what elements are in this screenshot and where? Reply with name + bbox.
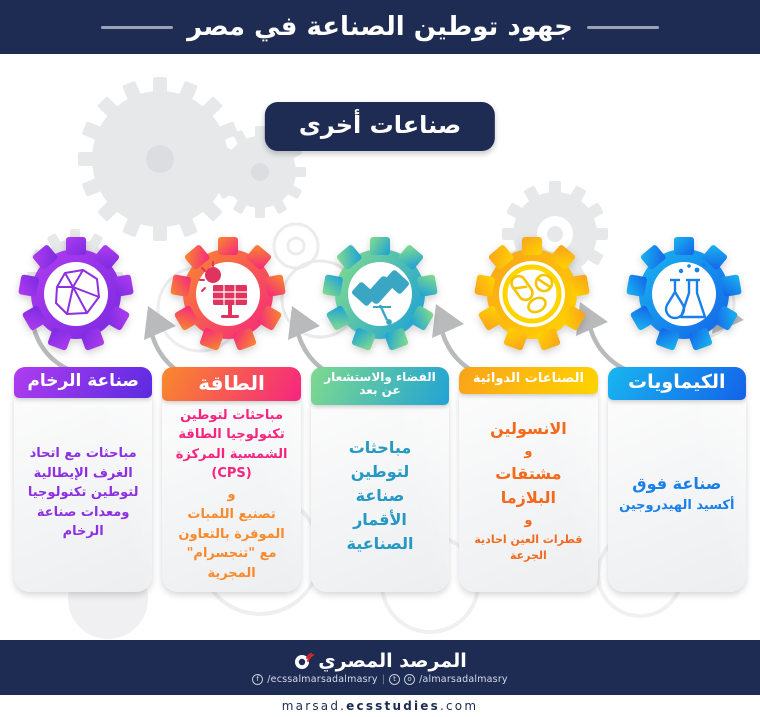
card-energy-body: مباحثات لتوطين تكنولوجيا الطاقة الشمسية … <box>162 397 300 592</box>
card-chemicals-body: صناعة فوق أكسيد الهيدروجين <box>608 396 746 592</box>
card-marble-header: صناعة الرخام <box>14 367 152 398</box>
social-separator: | <box>382 674 385 685</box>
main-canvas: صناعات أخرى <box>0 54 760 640</box>
header-rule-right <box>101 26 173 29</box>
footer-brand-bar: المرصد المصري f /ecssalmarsadalmasry | t… <box>0 640 760 695</box>
page-footer: المرصد المصري f /ecssalmarsadalmasry | t… <box>0 640 760 717</box>
card-space-title-line-1: الفضاء والاستشعار <box>315 371 445 384</box>
card-chemicals-line-2: أكسيد الهيدروجين <box>619 496 734 516</box>
brand-logo-text: المرصد المصري <box>318 650 467 672</box>
card-marble[interactable]: صناعة الرخام مباحثات مع اتحاد الغرف الإي… <box>14 367 152 592</box>
other-handle: /almarsadalmasry <box>419 674 508 685</box>
website-url[interactable]: marsad.ecsstudies.com <box>0 695 760 717</box>
card-pharmaceuticals[interactable]: الصناعات الدوائية الانسولين و مشتقات الب… <box>459 367 597 592</box>
card-energy-line-4: تصنيع اللمبات <box>169 505 293 525</box>
card-chemicals-line-1: صناعة فوق <box>619 472 734 496</box>
page-title: جهود توطين الصناعة في مصر <box>187 12 573 42</box>
card-energy-header: الطاقة <box>162 367 300 401</box>
card-pharma-line-3: قطرات العين احادية الجرعة <box>466 532 590 565</box>
card-energy-line-1: مباحثات لتوطين <box>169 406 293 426</box>
radar-logo-icon <box>293 651 315 671</box>
card-pharmaceuticals-body: الانسولين و مشتقات البلازما و قطرات العي… <box>459 390 597 592</box>
page-header: جهود توطين الصناعة في مصر <box>0 0 760 54</box>
energy-gear <box>169 235 287 353</box>
marble-gear <box>17 235 135 353</box>
gear-cell-pharma <box>456 224 608 364</box>
facebook-handle: /ecssalmarsadalmasry <box>267 674 377 685</box>
card-chemicals-header: الكيماويات <box>608 367 746 400</box>
card-pharma-line-2: مشتقات البلازما <box>466 462 590 510</box>
card-energy-line-5: الموفرة بالتعاون <box>169 525 293 545</box>
card-energy-line-6: مع "تنجسرام" المجرية <box>169 544 293 583</box>
card-pharma-line-1: الانسولين <box>466 417 590 441</box>
gear-cell-marble <box>0 224 152 364</box>
card-marble-line-2: الغرف الإيطالية <box>21 464 145 484</box>
industry-cards-row: الكيماويات صناعة فوق أكسيد الهيدروجين ال… <box>14 367 746 592</box>
card-space-header: الفضاء والاستشعار عن بعد <box>311 367 449 405</box>
header-rule-left <box>587 26 659 29</box>
site-suffix: .com <box>440 699 478 713</box>
card-space-line-1: مباحثات لتوطين <box>318 436 442 484</box>
card-space-line-2: صناعة <box>318 484 442 508</box>
social-handles: f /ecssalmarsadalmasry | t o /almarsadal… <box>252 674 508 685</box>
card-pharma-conj-2: و <box>466 511 590 531</box>
card-pharma-conj-1: و <box>466 442 590 462</box>
card-chemicals[interactable]: الكيماويات صناعة فوق أكسيد الهيدروجين <box>608 367 746 592</box>
card-space-title-line-2: عن بعد <box>315 384 445 397</box>
gear-cell-energy <box>152 224 304 364</box>
card-space-body: مباحثات لتوطين صناعة الأقمار الصناعية <box>311 401 449 592</box>
facebook-icon[interactable]: f <box>252 674 263 685</box>
card-pharmaceuticals-header: الصناعات الدوائية <box>459 367 597 394</box>
space-gear <box>321 235 439 353</box>
gear-icon-row <box>0 224 760 364</box>
card-energy-line-2: تكنولوجيا الطاقة <box>169 425 293 445</box>
gear-cell-chemicals <box>608 224 760 364</box>
card-space-line-3: الأقمار الصناعية <box>318 508 442 556</box>
pharma-gear <box>473 235 591 353</box>
brand-logo: المرصد المصري <box>293 650 467 672</box>
site-prefix: marsad. <box>282 699 346 713</box>
chemicals-gear <box>625 235 743 353</box>
card-marble-line-1: مباحثات مع اتحاد <box>21 444 145 464</box>
site-brand: ecsstudies <box>346 699 440 713</box>
card-energy-line-3: الشمسية المركزة (CPS) <box>169 445 293 484</box>
card-marble-line-3: لتوطين تكنولوجيا <box>21 483 145 503</box>
infographic-page: جهود توطين الصناعة في مصر <box>0 0 760 717</box>
section-badge: صناعات أخرى <box>265 102 495 151</box>
card-energy-conj: و <box>169 485 293 505</box>
instagram-icon[interactable]: o <box>404 674 415 685</box>
twitter-icon[interactable]: t <box>389 674 400 685</box>
gear-cell-space <box>304 224 456 364</box>
card-marble-line-4: ومعدات صناعة الرخام <box>21 503 145 542</box>
card-energy[interactable]: الطاقة مباحثات لتوطين تكنولوجيا الطاقة ا… <box>162 367 300 592</box>
card-marble-body: مباحثات مع اتحاد الغرف الإيطالية لتوطين … <box>14 394 152 592</box>
card-space-remote-sensing[interactable]: الفضاء والاستشعار عن بعد مباحثات لتوطين … <box>311 367 449 592</box>
